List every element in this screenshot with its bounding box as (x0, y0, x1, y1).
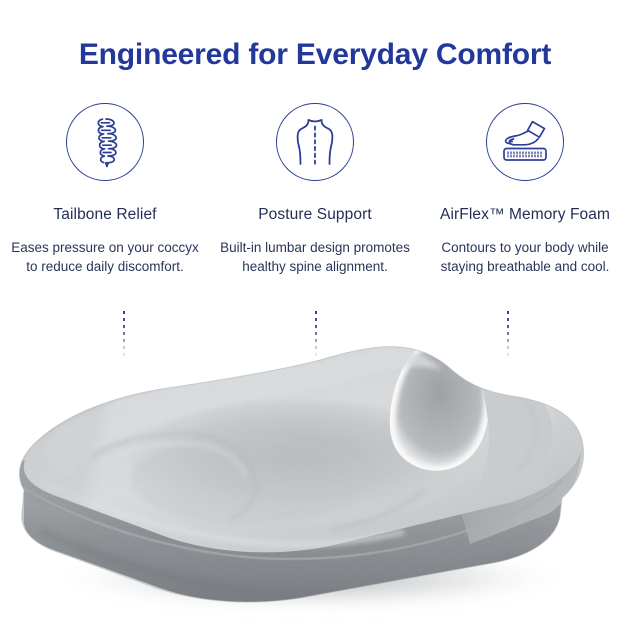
feature-title: AirFlex™ Memory Foam (440, 205, 610, 225)
feature-title: Tailbone Relief (53, 205, 156, 225)
feature-description: Built-in lumbar design promotes healthy … (220, 238, 410, 276)
feature-description: Eases pressure on your coccyx to reduce … (10, 238, 200, 276)
spine-vertebrae-icon (66, 103, 144, 181)
hand-pressing-foam-icon (486, 103, 564, 181)
feature-title: Posture Support (258, 205, 372, 225)
torso-posture-icon (276, 103, 354, 181)
product-image-seat-cushion (0, 330, 630, 630)
feature-list: Tailbone Relief Eases pressure on your c… (0, 103, 630, 276)
page-title: Engineered for Everyday Comfort (0, 38, 630, 71)
feature-description: Contours to your body while staying brea… (430, 238, 620, 276)
feature-item-tailbone-relief: Tailbone Relief Eases pressure on your c… (0, 103, 210, 276)
feature-item-posture-support: Posture Support Built-in lumbar design p… (210, 103, 420, 276)
feature-item-airflex-memory-foam: AirFlex™ Memory Foam Contours to your bo… (420, 103, 630, 276)
product-feature-infographic: Engineered for Everyday Comfort (0, 0, 630, 630)
